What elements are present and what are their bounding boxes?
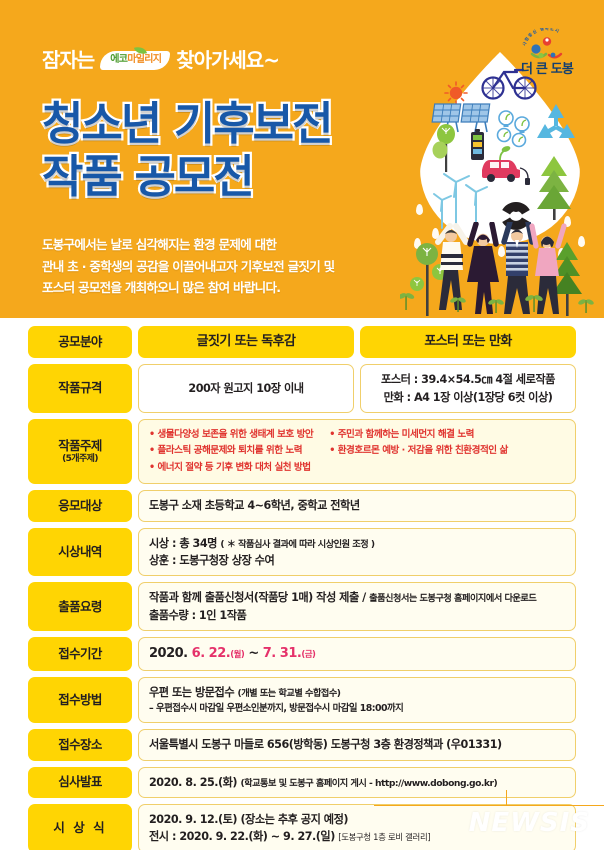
spec-col1-text: 200자 원고지 10장 이내 [149, 380, 343, 397]
period-start-day: (월) [230, 650, 244, 660]
theme-bullet: 에너지 절약 등 기후 변화 대처 실천 방법 [149, 460, 313, 477]
theme-cell: 생물다양성 보존을 위한 생태계 보호 방안 플라스틱 공해문제와 퇴치를 위한… [138, 419, 576, 485]
prizes-line1-note: ( ＊ 작품심사 결과에 따라 시상인원 조정 ) [220, 539, 374, 550]
electric-car-icon [482, 145, 530, 185]
theme-bullet: 환경호르몬 예방 · 저감을 위한 친환경적인 삶 [329, 443, 508, 460]
table-row-method: 접수방법 우편 또는 방문접수 (개별 또는 학교별 수합접수) – 우편접수시… [28, 677, 576, 723]
theme-bullet: 생물다양성 보존을 위한 생태계 보호 방안 [149, 427, 313, 444]
target-text: 도봉구 소재 초등학교 4~6학년, 중학교 전학년 [149, 497, 565, 514]
title-block: 청소년 기후보전 작품 공모전 [42, 98, 331, 203]
submission-line1-a: 작품과 함께 출품신청서(작품당 1매) 작성 제출 / [149, 591, 369, 604]
sprout-group [400, 292, 595, 313]
ceremony-line2: 전시 : 2020. 9. 22.(화) ~ 9. 27.(일) [도봉구청 1… [149, 828, 565, 845]
eco-bulb-icon [498, 111, 530, 147]
eco-icons-group [420, 52, 580, 244]
poster-title-line2: 작품 공모전 [42, 151, 331, 204]
period-year: 2020. [149, 646, 188, 661]
ceremony-cell: 2020. 9. 12.(토) (장소는 추후 공지 예정) 전시 : 2020… [138, 804, 576, 850]
table-row-target: 응모대상 도봉구 소재 초등학교 4~6학년, 중학교 전학년 [28, 490, 576, 521]
person-figure [438, 226, 466, 310]
eco-badge-orange-text: 마일리지 [127, 55, 161, 65]
row-label-category: 공모분야 [28, 326, 132, 358]
table-row-theme: 작품주제 (5개주제) 생물다양성 보존을 위한 생태계 보호 방안 플라스틱 … [28, 419, 576, 485]
hero-desc-line-2: 관내 초 · 중학생의 공감을 이끌어내고자 기후보전 글짓기 및 [42, 256, 334, 278]
row-label-announce: 심사발표 [28, 767, 132, 798]
row-label-text: 공모분야 [58, 335, 102, 349]
period-end: 7. 31. [263, 646, 302, 661]
announce-date: 2020. 8. 25.(화) [149, 776, 240, 789]
people-group [400, 222, 600, 318]
spec-col2-line1: 포스터 : 39.4×54.5㎝ 4절 세로작품 [371, 371, 565, 388]
row-label-text: 접수장소 [58, 738, 102, 752]
people-illustration [400, 222, 600, 318]
table-row-prizes: 시상내역 시상 : 총 34명 ( ＊ 작품심사 결과에 따라 시상인원 조정 … [28, 528, 576, 577]
spec-col2-line2: 만화 : A4 1장 이상(1장당 6컷 이상) [371, 389, 565, 406]
place-text: 서울특별시 도봉구 마들로 656(방학동) 도봉구청 3층 환경정책과 (우0… [149, 736, 565, 753]
row-label-text: 시상내역 [58, 545, 102, 559]
row-label-place: 접수장소 [28, 729, 132, 760]
period-separator: ~ [248, 646, 258, 661]
theme-bullet: 주민과 함께하는 미세먼지 해결 노력 [329, 427, 508, 444]
method-line2: – 우편접수시 마감일 우편소인분까지, 방문접수시 마감일 18:00까지 [149, 702, 565, 717]
announce-detail: (학교통보 및 도봉구 홈페이지 게시 - http://www.dobong.… [240, 778, 497, 789]
hero-desc-line-3: 포스터 공모전을 개최하오니 많은 참여 바랍니다. [42, 277, 334, 299]
submission-line1-b: 출품신청서는 도봉구청 홈페이지에서 다운로드 [369, 593, 536, 604]
ceremony-line2-b: [도봉구청 1층 로비 갤러리] [338, 832, 430, 842]
period-cell: 2020. 6. 22.(월) ~ 7. 31.(금) [138, 637, 576, 671]
submission-line2: 출품수량 : 1인 1작품 [149, 607, 565, 624]
eco-badge-green-text: 에코 [110, 55, 127, 65]
theme-col2: 주민과 함께하는 미세먼지 해결 노력 환경호르몬 예방 · 저감을 위한 친환… [329, 427, 508, 477]
poster-title-line1: 청소년 기후보전 [42, 98, 331, 151]
row-label-text: 응모대상 [58, 499, 102, 513]
row-label-period: 접수기간 [28, 637, 132, 671]
row-label-prizes: 시상내역 [28, 528, 132, 577]
tree-icon-left [433, 124, 456, 172]
prizes-line2: 상훈 : 도봉구청장 상장 수여 [149, 552, 565, 569]
table-row-ceremony: 시 상 식 2020. 9. 12.(토) (장소는 추후 공지 예정) 전시 … [28, 804, 576, 850]
category-col2-text: 포스터 또는 만화 [424, 332, 511, 352]
spec-col2: 포스터 : 39.4×54.5㎝ 4절 세로작품 만화 : A4 1장 이상(1… [360, 364, 576, 413]
period-text: 2020. 6. 22.(월) ~ 7. 31.(금) [149, 644, 565, 664]
prizes-line1: 시상 : 총 34명 ( ＊ 작품심사 결과에 따라 시상인원 조정 ) [149, 535, 565, 552]
method-line1: 우편 또는 방문접수 (개별 또는 학교별 수합접수) [149, 684, 565, 701]
row-label-ceremony: 시 상 식 [28, 804, 132, 850]
hero-desc-line-1: 도봉구에서는 날로 심각해지는 환경 문제에 대한 [42, 234, 334, 256]
table-row-place: 접수장소 서울특별시 도봉구 마들로 656(방학동) 도봉구청 3층 환경정책… [28, 729, 576, 760]
row-label-text: 작품주제 [58, 439, 102, 453]
period-end-day: (금) [301, 650, 315, 660]
method-line1-a: 우편 또는 방문접수 [149, 686, 238, 699]
table-row-period: 접수기간 2020. 6. 22.(월) ~ 7. 31.(금) [28, 637, 576, 671]
theme-bullet: 플라스틱 공해문제와 퇴치를 위한 노력 [149, 443, 313, 460]
row-label-text: 출품요령 [58, 600, 102, 614]
watermark-tick [506, 790, 507, 806]
hero-section: 사람중심 행복도시 더 큰 도봉 잠자는 에코 마 [0, 0, 604, 318]
prizes-cell: 시상 : 총 34명 ( ＊ 작품심사 결과에 따라 시상인원 조정 ) 상훈 … [138, 528, 576, 577]
place-cell: 서울특별시 도봉구 마들로 656(방학동) 도봉구청 3층 환경정책과 (우0… [138, 729, 576, 760]
row-label-theme: 작품주제 (5개주제) [28, 419, 132, 485]
tagline-prefix: 잠자는 [42, 50, 94, 70]
logo-mark: 사람중심 행복도시 [519, 28, 575, 62]
row-label-text: 접수기간 [58, 647, 102, 661]
logo-name: 더 큰 도봉 [510, 63, 584, 76]
submission-line1: 작품과 함께 출품신청서(작품당 1매) 작성 제출 / 출품신청서는 도봉구청… [149, 589, 565, 606]
announce-cell: 2020. 8. 25.(화) (학교통보 및 도봉구 홈페이지 게시 - ht… [138, 767, 576, 798]
conifer-tree-icon [537, 156, 571, 220]
table-row-spec: 작품규격 200자 원고지 10장 이내 포스터 : 39.4×54.5㎝ 4절… [28, 364, 576, 413]
submission-cell: 작품과 함께 출품신청서(작품당 1매) 작성 제출 / 출품신청서는 도봉구청… [138, 582, 576, 631]
battery-icon [471, 129, 484, 160]
row-label-target: 응모대상 [28, 490, 132, 521]
hero-description: 도봉구에서는 날로 심각해지는 환경 문제에 대한 관내 초 · 중학생의 공감… [42, 234, 334, 299]
svg-text:사람중심 행복도시: 사람중심 행복도시 [521, 28, 561, 47]
table-row-category: 공모분야 글짓기 또는 독후감 포스터 또는 만화 [28, 326, 576, 358]
ceremony-line2-a: 전시 : 2020. 9. 22.(화) ~ 9. 27.(일) [149, 830, 338, 843]
method-cell: 우편 또는 방문접수 (개별 또는 학교별 수합접수) – 우편접수시 마감일 … [138, 677, 576, 723]
period-start: 6. 22. [192, 646, 231, 661]
row-label-text: 심사발표 [58, 775, 102, 789]
prizes-line1-main: 시상 : 총 34명 [149, 537, 217, 550]
tagline: 잠자는 에코 마일리지 찾아가세요~ [42, 50, 279, 70]
poster-root: 사람중심 행복도시 더 큰 도봉 잠자는 에코 마 [0, 0, 604, 850]
tagline-suffix: 찾아가세요~ [176, 50, 279, 70]
announce-text: 2020. 8. 25.(화) (학교통보 및 도봉구 홈페이지 게시 - ht… [149, 774, 565, 791]
row-label-subtext: (5개주제) [62, 454, 98, 465]
sun-icon [445, 82, 467, 104]
eco-mileage-badge: 에코 마일리지 [100, 51, 170, 70]
watermark-rule [374, 805, 604, 806]
ceremony-line1: 2020. 9. 12.(토) (장소는 추후 공지 예정) [149, 811, 565, 828]
theme-col1: 생물다양성 보존을 위한 생태계 보호 방안 플라스틱 공해문제와 퇴치를 위한… [149, 427, 313, 477]
row-label-submission: 출품요령 [28, 582, 132, 631]
target-cell: 도봉구 소재 초등학교 4~6학년, 중학교 전학년 [138, 490, 576, 521]
category-col1: 글짓기 또는 독후감 [138, 326, 354, 358]
row-label-text: 시 상 식 [53, 821, 106, 835]
table-row-submission: 출품요령 작품과 함께 출품신청서(작품당 1매) 작성 제출 / 출품신청서는… [28, 582, 576, 631]
raindrop [416, 204, 423, 215]
row-label-text: 작품규격 [58, 381, 102, 395]
category-col2: 포스터 또는 만화 [360, 326, 576, 358]
row-label-text: 접수방법 [58, 693, 102, 707]
table-row-announce: 심사발표 2020. 8. 25.(화) (학교통보 및 도봉구 홈페이지 게시… [28, 767, 576, 798]
logo-symbol-icon: 사람중심 행복도시 [519, 28, 575, 62]
info-table: 공모분야 글짓기 또는 독후감 포스터 또는 만화 작품규격 200자 원고지 … [0, 318, 604, 850]
spec-col1: 200자 원고지 10장 이내 [138, 364, 354, 413]
recycle-icon [537, 104, 575, 138]
dobong-gu-logo: 사람중심 행복도시 더 큰 도봉 [510, 28, 584, 76]
row-label-method: 접수방법 [28, 677, 132, 723]
method-line1-b: (개별 또는 학교별 수합접수) [238, 688, 341, 699]
wind-turbine-icon [434, 174, 487, 228]
row-label-spec: 작품규격 [28, 364, 132, 413]
logo-arc-text: 사람중심 행복도시 [521, 28, 561, 47]
category-col1-text: 글짓기 또는 독후감 [197, 332, 296, 352]
